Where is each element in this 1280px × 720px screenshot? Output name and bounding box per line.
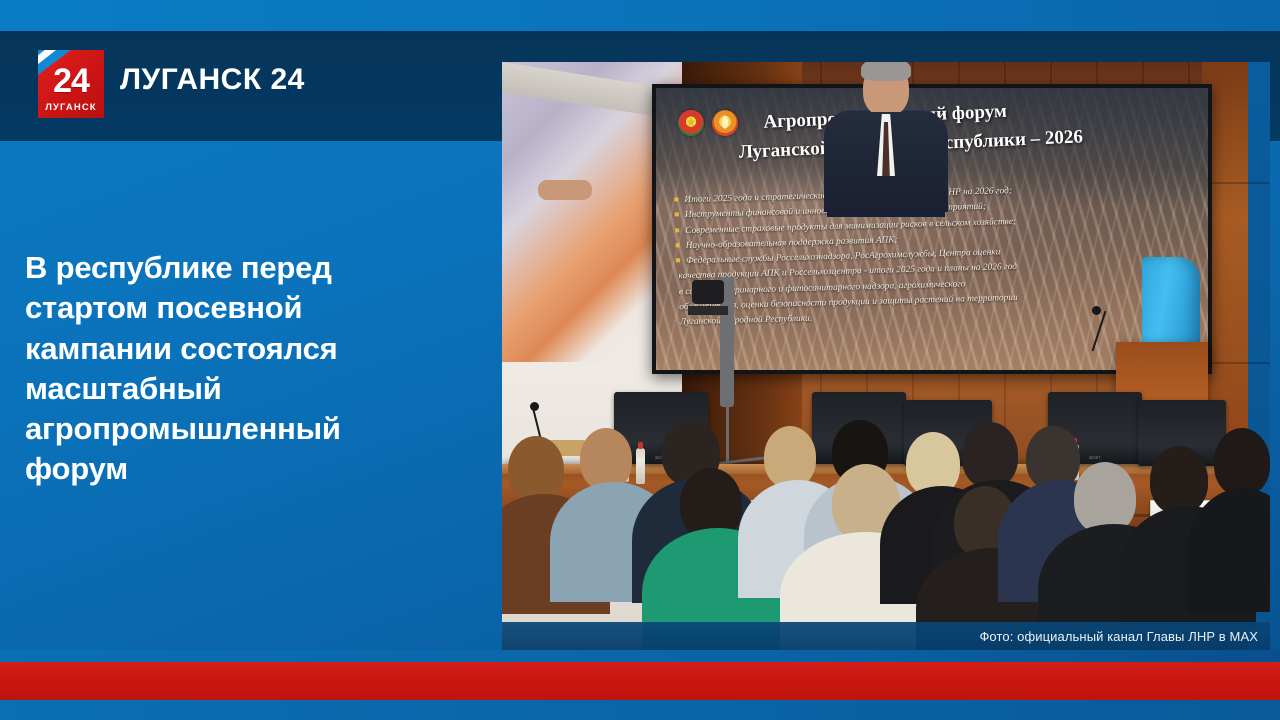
wall-camera-icon bbox=[692, 280, 724, 304]
bottom-red-bar bbox=[0, 662, 1280, 700]
logo-subtitle: ЛУГАНСК bbox=[45, 103, 96, 113]
channel-name: ЛУГАНСК 24 bbox=[120, 63, 305, 97]
channel-logo[interactable]: 24 ЛУГАНСК bbox=[38, 50, 104, 118]
coat-of-arms-icon bbox=[678, 110, 704, 136]
audience-head bbox=[962, 422, 1018, 488]
audience-head bbox=[580, 428, 632, 490]
speaker-hands bbox=[538, 180, 592, 200]
bottom-blue-band bbox=[0, 650, 1280, 662]
bottom-accent-strip bbox=[0, 700, 1280, 720]
news-photo: Агропромышленный форум Луганской Народно… bbox=[502, 62, 1270, 650]
audience bbox=[502, 420, 1270, 650]
top-accent-strip bbox=[0, 0, 1280, 31]
logo-box: 24 ЛУГАНСК bbox=[38, 50, 104, 118]
headline-text: В республике перед стартом посевной камп… bbox=[25, 248, 445, 490]
news-card: 24 ЛУГАНСК ЛУГАНСК 24 В республике перед… bbox=[0, 0, 1280, 720]
logo-number: 24 bbox=[53, 64, 89, 98]
audience-head bbox=[1074, 462, 1136, 534]
wheat-emblem-icon bbox=[712, 110, 738, 136]
audience-head bbox=[1150, 446, 1208, 514]
photo-credit-text: Фото: официальный канал Главы ЛНР в MAX bbox=[979, 629, 1270, 644]
audience-head bbox=[764, 426, 816, 488]
microphone-head bbox=[1092, 306, 1101, 315]
audience-head bbox=[508, 436, 564, 502]
photo-credit-bar: Фото: официальный канал Главы ЛНР в MAX bbox=[502, 622, 1270, 650]
microphone-head bbox=[530, 402, 539, 411]
speaker-hair bbox=[861, 62, 911, 81]
audience-head bbox=[1214, 428, 1270, 496]
camera-mount bbox=[688, 306, 728, 315]
